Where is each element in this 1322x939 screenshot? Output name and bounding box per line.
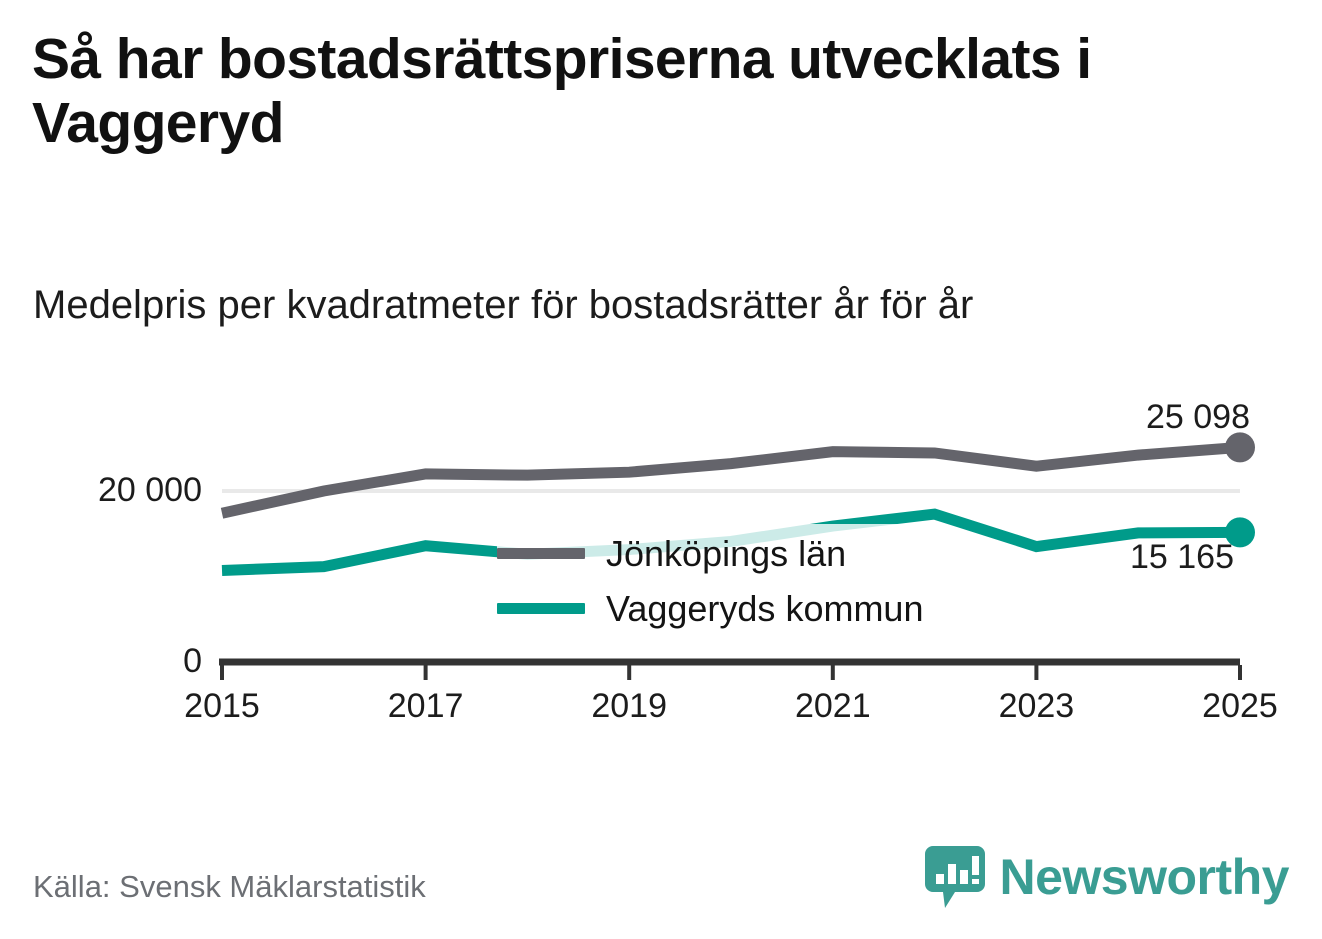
newsworthy-logo[interactable]: Newsworthy bbox=[925, 846, 1289, 908]
source-note: Källa: Svensk Mäklarstatistik bbox=[33, 869, 426, 905]
x-axis-label-2017: 2017 bbox=[356, 687, 496, 726]
y-axis-tick-0: 0 bbox=[0, 642, 202, 681]
legend-swatch-kommun bbox=[497, 603, 585, 614]
y-axis-tick-20000: 20 000 bbox=[0, 471, 202, 510]
legend-item-lan[interactable]: Jönköpings län bbox=[497, 526, 923, 581]
x-axis-label-2025: 2025 bbox=[1170, 687, 1310, 726]
brand-name: Newsworthy bbox=[999, 852, 1289, 902]
end-value-label-kommun: 15 165 bbox=[1130, 538, 1234, 577]
x-axis bbox=[219, 662, 1240, 680]
x-axis-label-2021: 2021 bbox=[763, 687, 903, 726]
x-axis-label-2019: 2019 bbox=[559, 687, 699, 726]
x-axis-label-2015: 2015 bbox=[152, 687, 292, 726]
legend-label-lan: Jönköpings län bbox=[606, 536, 846, 572]
x-axis-label-2023: 2023 bbox=[966, 687, 1106, 726]
chart-legend: Jönköpings län Vaggeryds kommun bbox=[497, 524, 929, 638]
series-line-lan bbox=[222, 447, 1240, 513]
legend-swatch-lan bbox=[497, 548, 585, 559]
end-value-label-lan: 25 098 bbox=[1146, 398, 1250, 437]
legend-item-kommun[interactable]: Vaggeryds kommun bbox=[497, 581, 923, 636]
legend-label-kommun: Vaggeryds kommun bbox=[606, 591, 923, 627]
bar-chart-speech-bubble-icon bbox=[925, 846, 985, 908]
